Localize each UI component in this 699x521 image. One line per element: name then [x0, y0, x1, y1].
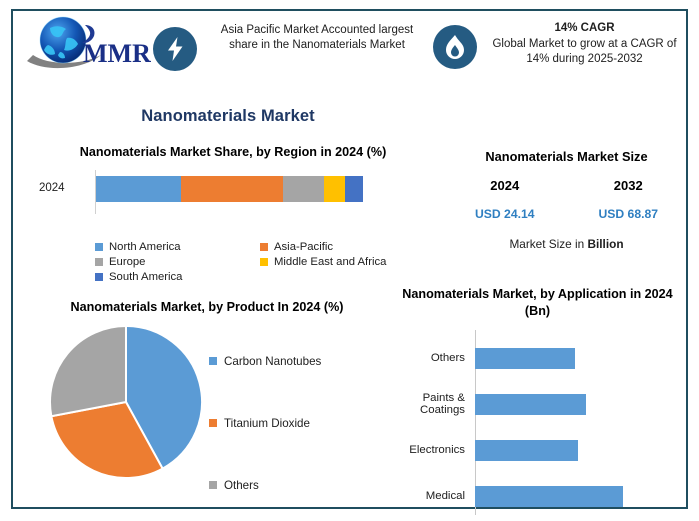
- header-highlight-text: Asia Pacific Market Accounted largest sh…: [206, 23, 428, 53]
- pie-slice: [50, 326, 126, 416]
- product-legend: Carbon NanotubesTitanium DioxideOthers: [209, 330, 384, 516]
- header-cagr-text: 14% CAGR Global Market to grow at a CAGR…: [486, 21, 683, 67]
- cagr-description: Global Market to grow at a CAGR of 14% d…: [486, 37, 683, 67]
- region-legend-item: Asia-Pacific: [260, 239, 425, 254]
- product-chart-title: Nanomaterials Market, by Product In 2024…: [47, 299, 367, 316]
- application-chart-title: Nanomaterials Market, by Application in …: [393, 286, 683, 320]
- globe-icon: MMR: [23, 15, 151, 73]
- region-category-label: 2024: [39, 182, 65, 194]
- legend-label: Others: [224, 479, 259, 492]
- region-segment: [324, 176, 345, 202]
- product-legend-item: Carbon Nanotubes: [209, 330, 384, 392]
- application-bar: [475, 394, 586, 415]
- application-bar: [475, 486, 623, 507]
- region-chart-title: Nanomaterials Market Share, by Region in…: [53, 144, 413, 161]
- legend-swatch: [95, 258, 103, 266]
- market-size-year: 2032: [567, 178, 691, 193]
- legend-swatch: [209, 481, 217, 489]
- region-segment: [96, 176, 181, 202]
- market-size-title: Nanomaterials Market Size: [443, 149, 690, 164]
- page-title: Nanomaterials Market: [13, 107, 443, 126]
- product-legend-item: Others: [209, 454, 384, 516]
- logo-text: MMR: [83, 39, 151, 68]
- region-segment: [181, 176, 284, 202]
- legend-swatch: [209, 419, 217, 427]
- header-highlight-cagr: 14% CAGR Global Market to grow at a CAGR…: [433, 21, 683, 69]
- region-segment: [283, 176, 324, 202]
- header: MMR Asia Pacific Market Accounted larges…: [13, 11, 690, 93]
- region-legend-item: North America: [95, 239, 260, 254]
- application-bar: [475, 440, 578, 461]
- market-size-panel: Nanomaterials Market Size 2024 USD 24.14…: [443, 149, 690, 251]
- application-category-label: Medical: [385, 490, 470, 502]
- lightning-bolt-icon: [153, 27, 197, 71]
- region-legend: North AmericaAsia-PacificEuropeMiddle Ea…: [95, 239, 425, 284]
- legend-label: South America: [109, 271, 182, 283]
- application-row: Others: [385, 335, 685, 381]
- legend-label: Europe: [109, 256, 145, 268]
- market-size-column-2032: 2032 USD 68.87: [567, 178, 691, 221]
- cagr-value: 14% CAGR: [486, 21, 683, 36]
- market-size-year: 2024: [443, 178, 567, 193]
- product-share-chart: Nanomaterials Market, by Product In 2024…: [27, 299, 387, 497]
- market-size-columns: 2024 USD 24.14 2032 USD 68.87: [443, 178, 690, 221]
- market-size-note-unit: Billion: [587, 237, 623, 251]
- header-highlight-asia-pacific: Asia Pacific Market Accounted largest sh…: [153, 23, 428, 71]
- application-row: Electronics: [385, 427, 685, 473]
- application-category-label: Others: [385, 352, 470, 364]
- flame-icon: [433, 25, 477, 69]
- legend-swatch: [260, 243, 268, 251]
- legend-swatch: [209, 357, 217, 365]
- market-size-value: USD 68.87: [567, 207, 691, 221]
- region-plot-area: 2024: [27, 170, 439, 214]
- market-size-note-prefix: Market Size in: [509, 237, 587, 251]
- legend-label: Carbon Nanotubes: [224, 355, 321, 368]
- application-category-label: Electronics: [385, 444, 470, 456]
- mmr-logo: MMR: [23, 15, 151, 73]
- application-chart: Nanomaterials Market, by Application in …: [385, 286, 690, 515]
- region-segment: [345, 176, 363, 202]
- application-bar: [475, 348, 575, 369]
- application-row: Paints & Coatings: [385, 381, 685, 427]
- legend-label: Titanium Dioxide: [224, 417, 310, 430]
- application-row: Medical: [385, 473, 685, 519]
- legend-swatch: [260, 258, 268, 266]
- product-pie: [48, 324, 208, 484]
- region-share-chart: Nanomaterials Market Share, by Region in…: [27, 144, 439, 214]
- legend-swatch: [95, 243, 103, 251]
- region-stacked-bar: [96, 176, 363, 202]
- legend-label: North America: [109, 241, 181, 253]
- legend-swatch: [95, 273, 103, 281]
- application-category-label: Paints & Coatings: [385, 392, 470, 416]
- product-legend-item: Titanium Dioxide: [209, 392, 384, 454]
- header-highlight-body: Asia Pacific Market Accounted largest sh…: [206, 23, 428, 53]
- legend-label: Middle East and Africa: [274, 256, 386, 268]
- region-legend-item: South America: [95, 269, 260, 284]
- legend-label: Asia-Pacific: [274, 241, 333, 253]
- market-size-note: Market Size in Billion: [443, 237, 690, 251]
- region-legend-item: Europe: [95, 254, 260, 269]
- application-plot-area: OthersPaints & CoatingsElectronicsMedica…: [385, 330, 685, 515]
- infographic-frame: MMR Asia Pacific Market Accounted larges…: [11, 9, 688, 509]
- market-size-column-2024: 2024 USD 24.14: [443, 178, 567, 221]
- region-legend-item: Middle East and Africa: [260, 254, 425, 269]
- market-size-value: USD 24.14: [443, 207, 567, 221]
- infographic-page: MMR Asia Pacific Market Accounted larges…: [0, 0, 699, 521]
- product-plot-area: Carbon NanotubesTitanium DioxideOthers: [27, 322, 387, 497]
